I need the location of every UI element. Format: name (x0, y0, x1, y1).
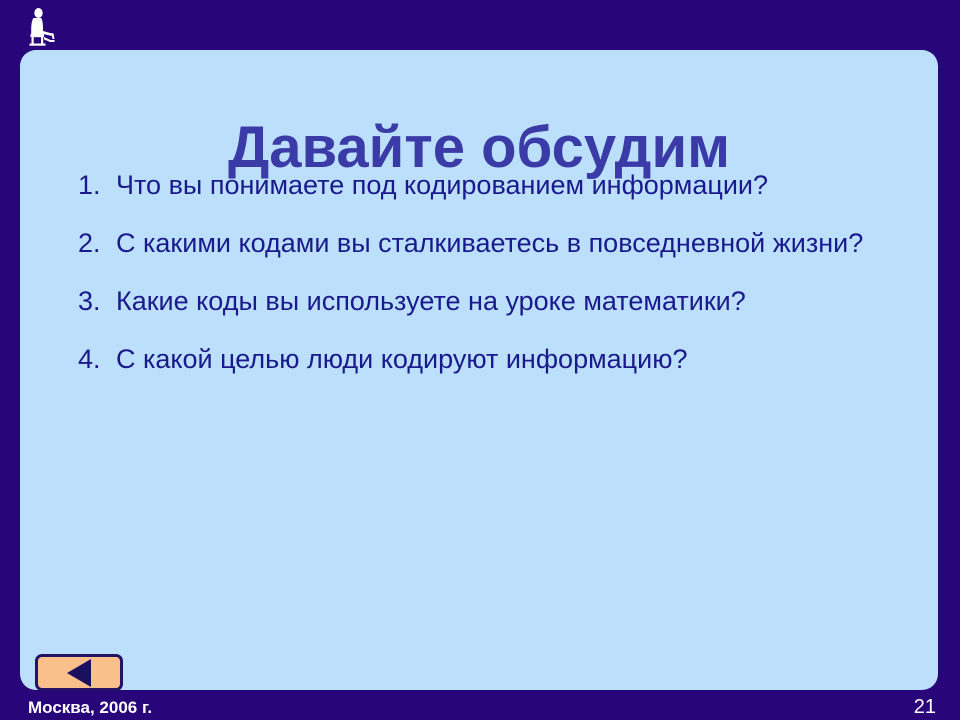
presentation-slide: Давайте обсудим 1. Что вы понимаете под … (0, 0, 960, 720)
list-item: 1. Что вы понимаете под кодированием инф… (78, 168, 908, 204)
list-item-number: 2. (78, 226, 116, 262)
triangle-left-icon (67, 659, 91, 687)
list-item-number: 1. (78, 168, 116, 204)
list-item-text: Что вы понимаете под кодированием информ… (116, 168, 908, 204)
list-item-text: Какие коды вы используете на уроке матем… (116, 284, 908, 320)
list-item-number: 3. (78, 284, 116, 320)
list-item-text: С какими кодами вы сталкиваетесь в повсе… (116, 226, 908, 262)
seated-person-icon (24, 7, 62, 47)
list-item-number: 4. (78, 342, 116, 378)
list-item: 2. С какими кодами вы сталкиваетесь в по… (78, 226, 908, 262)
discussion-questions-list: 1. Что вы понимаете под кодированием инф… (78, 168, 908, 400)
page-number: 21 (914, 696, 936, 719)
list-item-text: С какой целью люди кодируют информацию? (116, 342, 908, 378)
list-item: 4. С какой целью люди кодируют информаци… (78, 342, 908, 378)
footer-location-date: Москва, 2006 г. (28, 698, 152, 718)
back-button[interactable] (35, 654, 123, 691)
slide-content-panel: Давайте обсудим 1. Что вы понимаете под … (20, 50, 938, 690)
list-item: 3. Какие коды вы используете на уроке ма… (78, 284, 908, 320)
